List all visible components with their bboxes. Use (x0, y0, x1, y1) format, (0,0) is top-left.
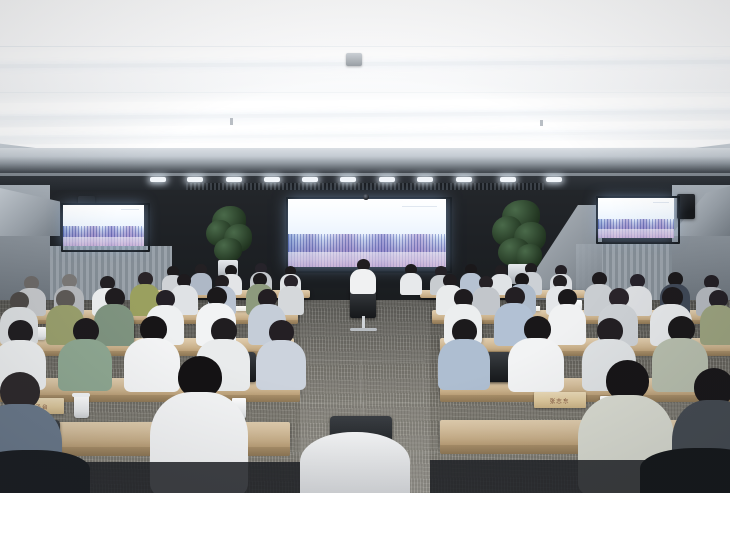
chair-base (350, 328, 377, 331)
plant-foliage (214, 238, 242, 262)
ceiling-seam (0, 46, 730, 47)
attendee (58, 318, 112, 386)
soffit-downlight (379, 177, 395, 182)
attendee (256, 320, 306, 386)
attendee (508, 316, 564, 386)
attendee-center-aisle (350, 259, 376, 293)
attendee-foreground-near (300, 432, 410, 493)
soffit-downlight (264, 177, 280, 182)
display-watermark (121, 209, 139, 212)
ceiling-sprinkler-icon (540, 120, 543, 126)
soffit-downlight (302, 177, 318, 182)
soffit-downlight (500, 177, 516, 182)
attendee-torso (0, 450, 90, 493)
display-river (598, 229, 674, 238)
right-display (598, 198, 674, 238)
attendee-torso (300, 432, 410, 493)
display-watermark (402, 206, 437, 211)
soffit-downlight (150, 177, 166, 182)
display-watermark (653, 202, 670, 205)
attendee-torso (350, 269, 376, 294)
name-placard-right-text: 张志东 (550, 396, 570, 405)
attendee-foreground-near (0, 450, 90, 493)
ceiling-seam (0, 92, 730, 93)
main-display (288, 199, 446, 267)
soffit-downlight (340, 177, 356, 182)
cup-lid (72, 393, 90, 397)
soffit-downlight (226, 177, 242, 182)
soffit-downlight (417, 177, 433, 182)
attendee-foreground-near (640, 448, 730, 493)
soffit-downlight (456, 177, 472, 182)
smoke-detector-icon (346, 53, 362, 66)
carpet-tile (300, 360, 362, 404)
attendee-torso (508, 338, 564, 392)
bottom-letterbox (0, 493, 730, 548)
screenshot-root: 中子台 张志东 (0, 0, 730, 548)
attendee (438, 319, 490, 386)
soffit-downlight (546, 177, 562, 182)
attendee-torso (400, 273, 422, 295)
attendee-torso (256, 340, 306, 390)
attendee-torso (438, 339, 490, 390)
water-cup (74, 396, 89, 418)
ceiling-sprinkler-icon (230, 118, 233, 125)
soffit-downlight (187, 177, 203, 182)
left-display (63, 205, 144, 246)
display-river (63, 237, 144, 246)
carpet-tile (360, 360, 424, 404)
attendee-torso (58, 339, 112, 391)
display-camera-icon (363, 194, 369, 200)
attendee (400, 264, 422, 294)
conference-room-photograph: 中子台 张志东 (0, 0, 730, 493)
attendee-torso (640, 448, 730, 493)
